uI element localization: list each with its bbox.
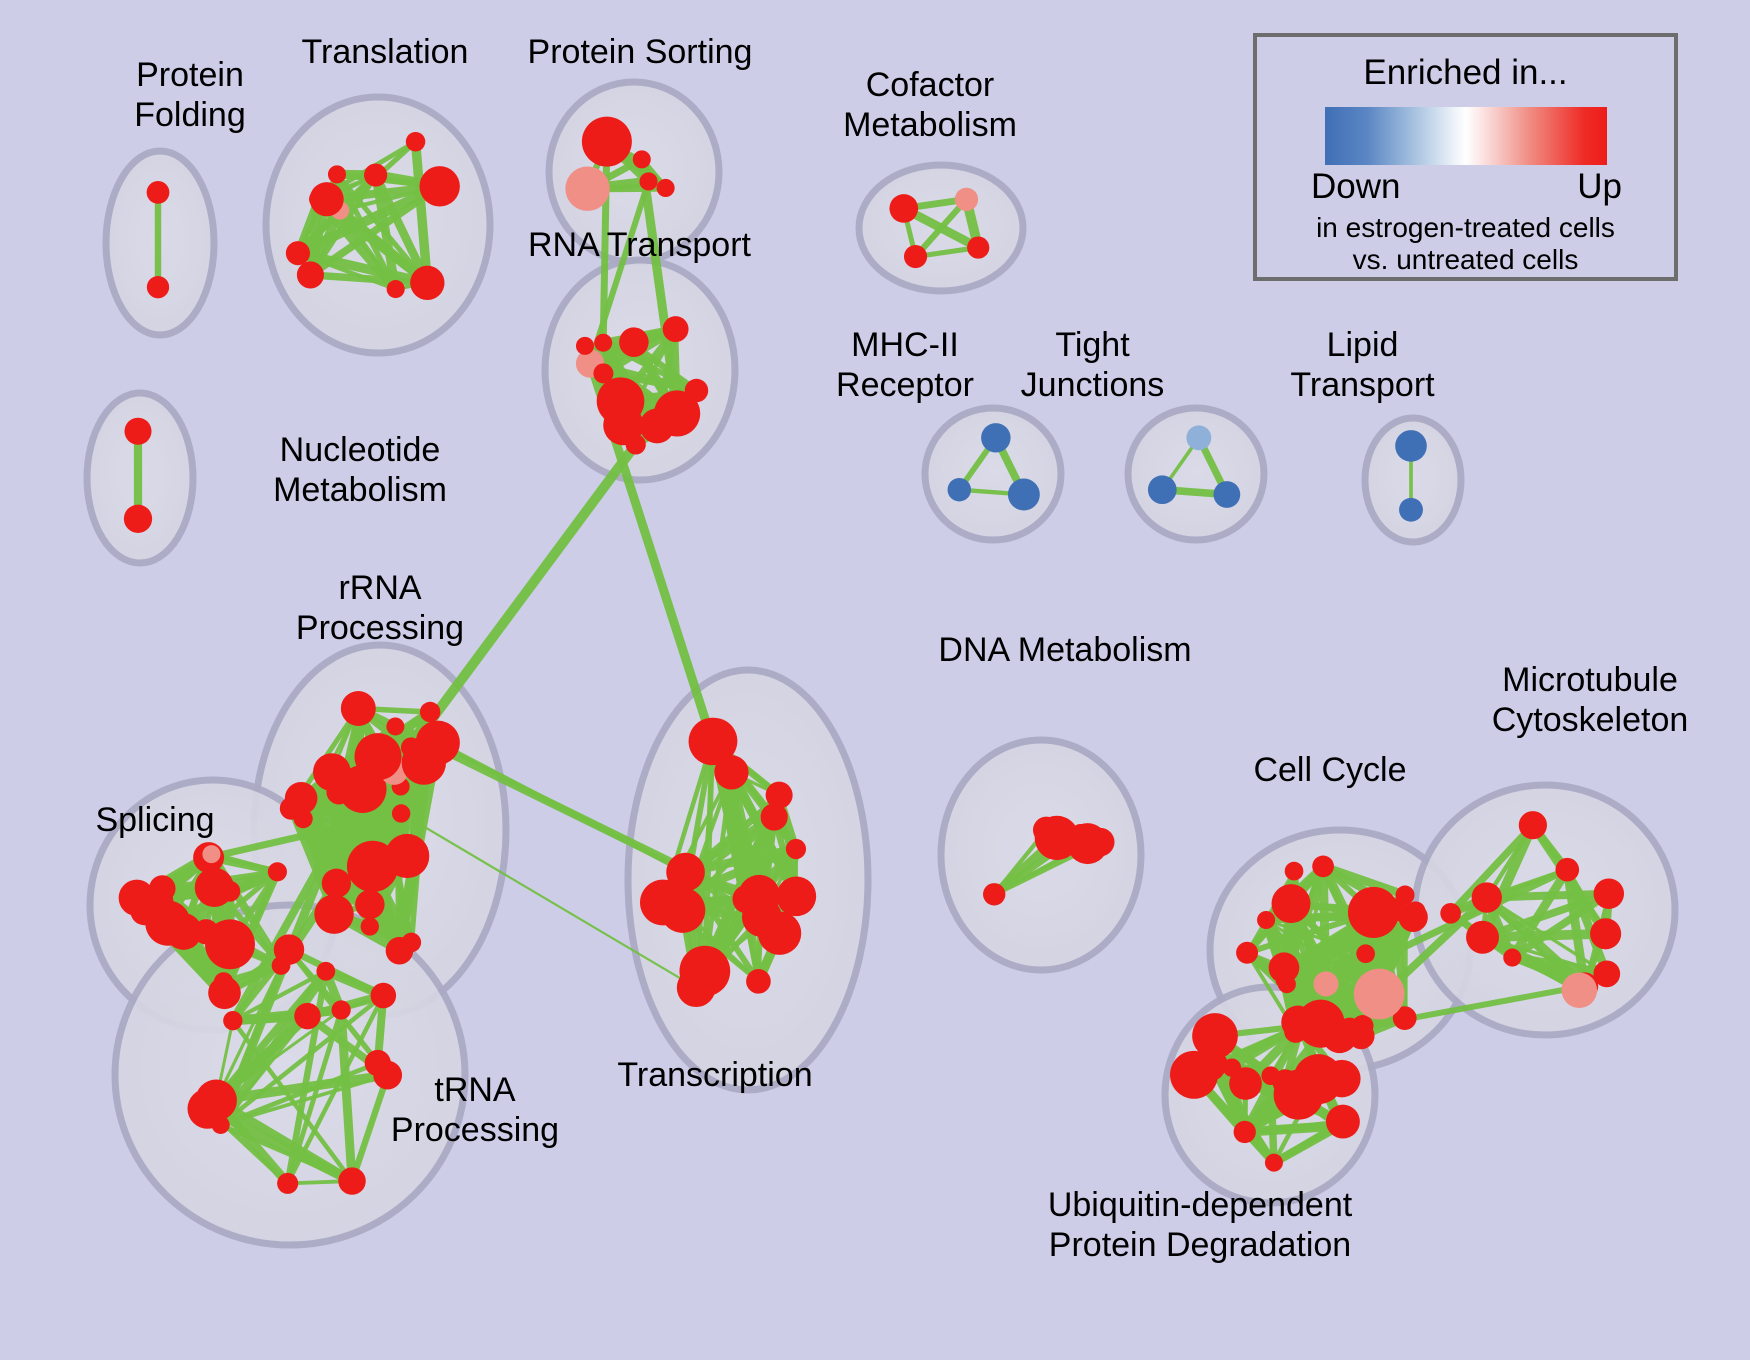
network-node (761, 803, 788, 830)
legend-title: Enriched in... (1257, 53, 1674, 93)
network-node (746, 969, 771, 994)
network-edge (411, 444, 636, 747)
network-node (210, 982, 236, 1008)
network-node (625, 336, 644, 355)
network-node (1272, 1069, 1298, 1095)
network-node (1035, 816, 1079, 860)
network-node (310, 182, 344, 216)
network-node (1555, 858, 1579, 882)
network-node (1236, 942, 1258, 964)
network-node (1213, 481, 1240, 508)
network-node (410, 266, 444, 300)
network-node (955, 188, 978, 211)
network-node (565, 166, 609, 210)
network-node (1186, 425, 1211, 450)
network-node (1288, 1013, 1314, 1039)
network-node (657, 179, 675, 197)
network-node (385, 834, 429, 878)
network-node (316, 962, 335, 981)
network-node (691, 718, 737, 764)
network-node (332, 1000, 351, 1019)
network-node (904, 245, 927, 268)
color-scale-bar (1325, 107, 1607, 165)
network-node (1594, 878, 1624, 908)
network-node (1235, 1123, 1255, 1143)
legend-subtitle-line2: vs. untreated cells (1257, 243, 1674, 277)
network-node (967, 236, 989, 258)
network-node (1313, 971, 1338, 996)
network-node (1503, 949, 1521, 967)
network-node (576, 337, 594, 355)
network-node (286, 241, 310, 265)
network-node (1326, 1105, 1360, 1139)
network-node (392, 804, 410, 822)
network-node (1562, 972, 1598, 1008)
network-node (223, 1011, 242, 1030)
network-node (594, 334, 612, 352)
network-node (371, 983, 397, 1009)
network-node (268, 862, 287, 881)
network-node (983, 883, 1005, 905)
network-node (219, 881, 240, 902)
legend-endpoints: Down Up (1257, 167, 1674, 213)
legend-up-label: Up (1577, 167, 1622, 207)
network-node (354, 733, 401, 780)
network-node (364, 164, 387, 187)
network-node (981, 423, 1010, 452)
network-node (341, 691, 376, 726)
network-node (1229, 1067, 1262, 1100)
network-node (147, 181, 170, 204)
network-node (386, 717, 404, 735)
network-node (1466, 921, 1499, 954)
network-node (124, 505, 152, 533)
network-node (1590, 918, 1621, 949)
network-node (274, 934, 304, 964)
network-node (1354, 969, 1405, 1020)
network-node (328, 165, 346, 183)
network-node (1275, 971, 1293, 989)
network-node (633, 150, 651, 168)
network-node (402, 740, 446, 784)
network-node (280, 797, 303, 820)
network-node (361, 917, 379, 935)
network-node (420, 702, 440, 722)
network-node (1312, 855, 1334, 877)
network-node (603, 405, 643, 445)
network-node (373, 1061, 402, 1090)
network-node (314, 894, 353, 933)
network-node (1440, 903, 1461, 924)
network-node (1593, 960, 1620, 987)
network-node (1203, 1058, 1225, 1080)
network-node (1396, 886, 1415, 905)
network-node (889, 194, 918, 223)
network-node (663, 316, 689, 342)
network-node (322, 869, 351, 898)
network-node (1257, 911, 1275, 929)
network-node (1472, 882, 1502, 912)
network-figure: Protein FoldingTranslationProtein Sortin… (0, 0, 1750, 1360)
network-node (639, 172, 657, 190)
network-node (294, 1003, 320, 1029)
network-node (948, 478, 971, 501)
network-node (1148, 475, 1177, 504)
network-node (1348, 1022, 1375, 1049)
network-node (338, 1167, 365, 1194)
network-node (660, 888, 705, 933)
network-node (402, 933, 422, 953)
network-node (1398, 903, 1427, 932)
network-node (1293, 1054, 1343, 1104)
network-node (1265, 1154, 1283, 1172)
network-edge (1483, 934, 1606, 937)
network-node (1285, 862, 1304, 881)
network-node (387, 280, 405, 298)
network-node (297, 261, 324, 288)
network-node (202, 845, 220, 863)
network-node (786, 839, 806, 859)
network-node (419, 166, 459, 206)
legend-subtitle-line1: in estrogen-treated cells (1257, 211, 1674, 245)
network-node (277, 1173, 298, 1194)
network-node (777, 876, 817, 916)
network-node (406, 132, 425, 151)
network-node (679, 946, 730, 997)
network-node (193, 919, 218, 944)
network-node (147, 276, 169, 298)
network-node (1086, 828, 1114, 856)
network-node (355, 890, 384, 919)
network-node (1395, 430, 1427, 462)
network-node (582, 117, 632, 167)
network-node (640, 408, 675, 443)
network-node (124, 418, 151, 445)
network-node (1519, 811, 1547, 839)
legend-down-label: Down (1311, 167, 1400, 207)
network-node (742, 897, 782, 937)
network-node (188, 1089, 228, 1129)
network-node (1272, 884, 1311, 923)
network-node (326, 779, 351, 804)
network-node (685, 379, 708, 402)
network-node (1008, 479, 1040, 511)
network-node (145, 900, 190, 945)
legend-box: Enriched in... Down Up in estrogen-treat… (1253, 33, 1678, 281)
network-node (1356, 944, 1375, 963)
network-node (1071, 824, 1089, 842)
network-node (1399, 498, 1423, 522)
